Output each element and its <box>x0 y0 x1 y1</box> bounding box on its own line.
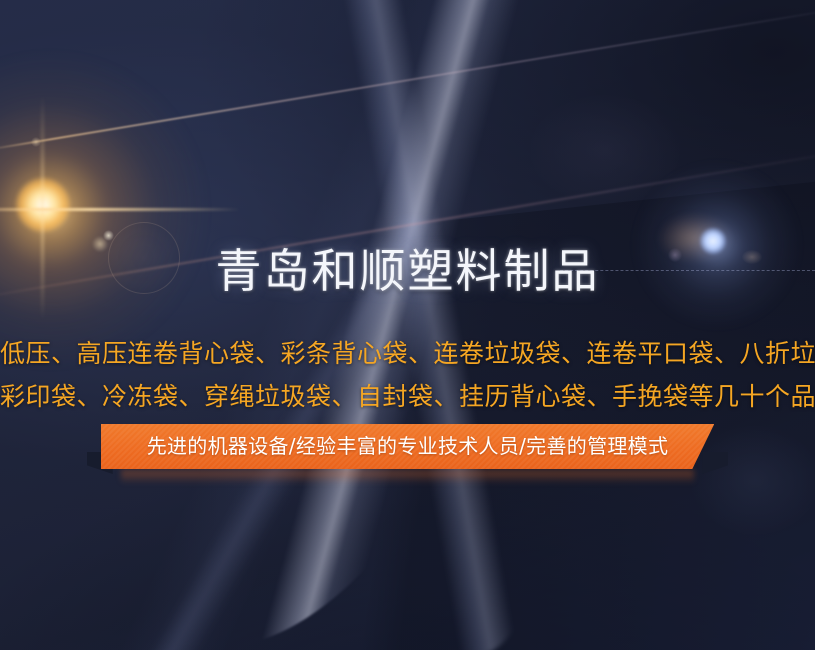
slogan-ribbon-outer: 先进的机器设备/经验丰富的专业技术人员/完善的管理模式 <box>101 424 715 469</box>
company-title: 青岛和顺塑料制品 <box>0 248 815 294</box>
ribbon-reflection <box>121 470 695 484</box>
product-line-1: 低压、高压连卷背心袋、彩条背心袋、连卷垃圾袋、连卷平口袋、八折垃圾袋、 <box>0 332 815 375</box>
ribbon-tail-right <box>702 452 728 474</box>
banner-content: 青岛和顺塑料制品 低压、高压连卷背心袋、彩条背心袋、连卷垃圾袋、连卷平口袋、八折… <box>0 0 815 650</box>
product-list: 低压、高压连卷背心袋、彩条背心袋、连卷垃圾袋、连卷平口袋、八折垃圾袋、 彩印袋、… <box>0 332 815 418</box>
slogan-ribbon-container: 先进的机器设备/经验丰富的专业技术人员/完善的管理模式 <box>0 424 815 469</box>
slogan-ribbon: 先进的机器设备/经验丰富的专业技术人员/完善的管理模式 <box>101 424 715 469</box>
promotional-banner: 青岛和顺塑料制品 低压、高压连卷背心袋、彩条背心袋、连卷垃圾袋、连卷平口袋、八折… <box>0 0 815 650</box>
product-line-2: 彩印袋、冷冻袋、穿绳垃圾袋、自封袋、挂历背心袋、手挽袋等几十个品种 <box>0 375 815 418</box>
